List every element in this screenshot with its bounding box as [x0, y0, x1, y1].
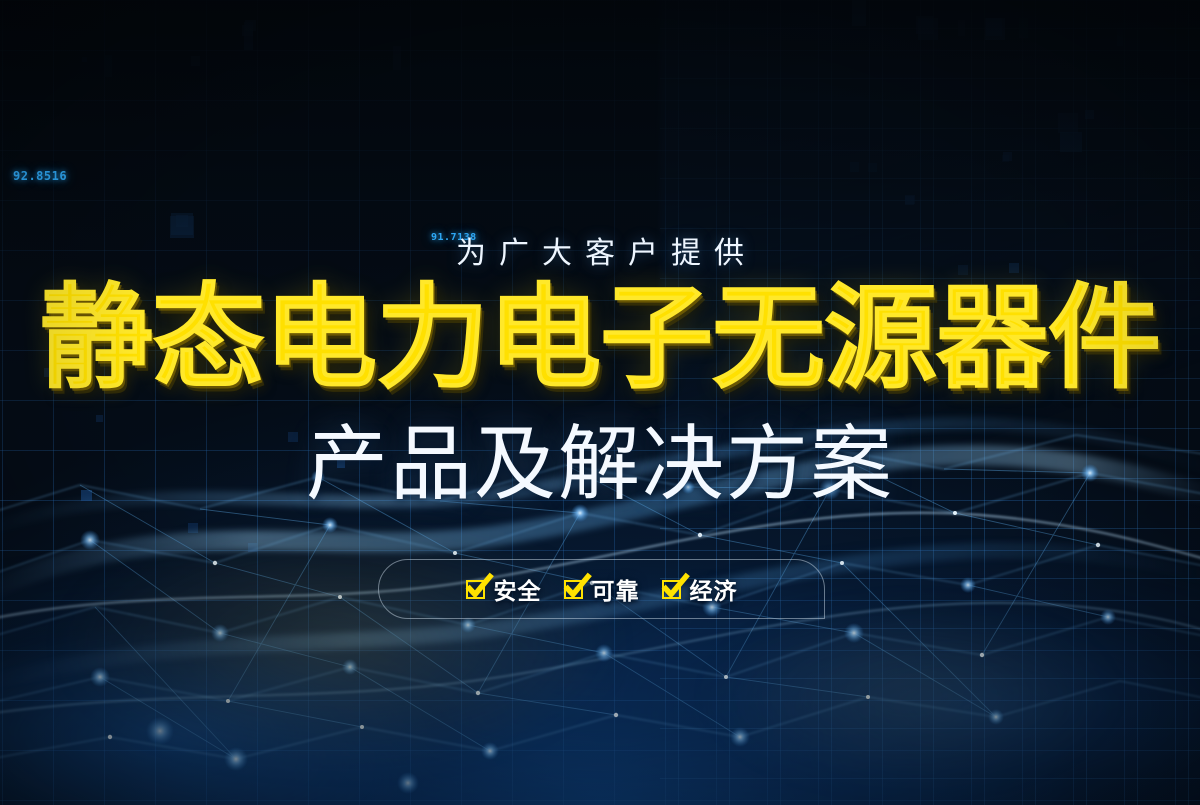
- poster-canvas: 92.8516 91.7138 为广大客户提供 静态电力电子无源器件 产品及解决…: [0, 0, 1200, 805]
- vignette-overlay: [0, 0, 1200, 805]
